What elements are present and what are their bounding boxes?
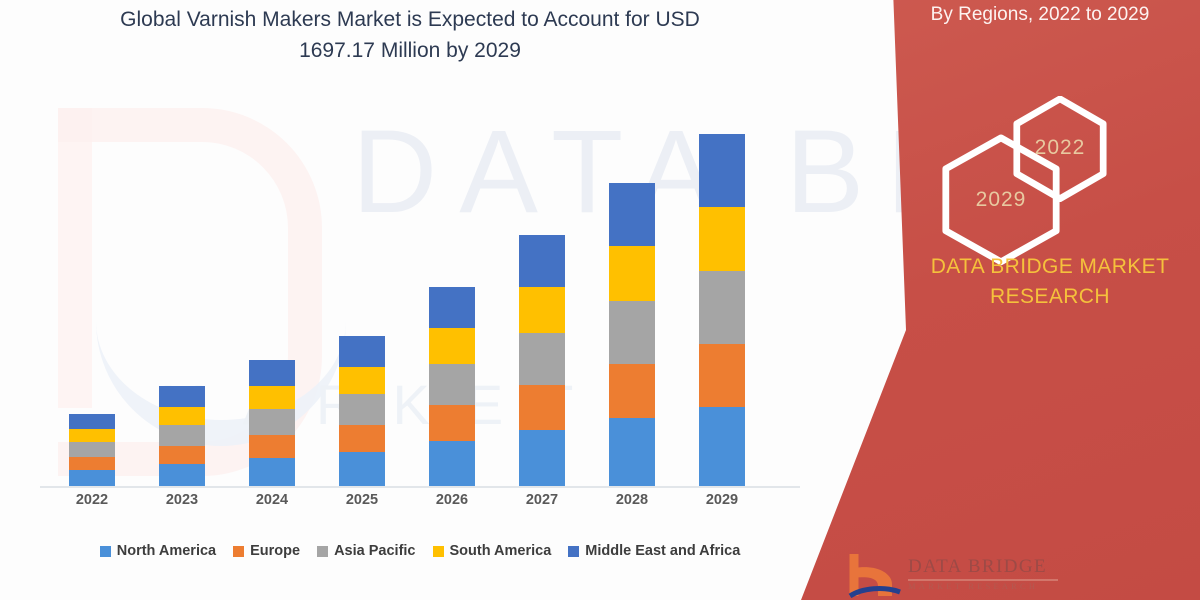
legend-label: Middle East and Africa	[585, 543, 740, 559]
bar-group-2025	[339, 336, 385, 486]
legend-label: South America	[450, 543, 552, 559]
bar-segment-middle-east-and-africa	[429, 287, 475, 328]
bar-segment-north-america	[159, 464, 205, 486]
bar-segment-middle-east-and-africa	[159, 386, 205, 407]
bar-segment-europe	[699, 344, 745, 407]
bar-segment-middle-east-and-africa	[699, 134, 745, 207]
legend-label: North America	[117, 543, 216, 559]
bar-segment-middle-east-and-africa	[339, 336, 385, 367]
hexagon-badge-2022-label: 2022	[1035, 136, 1086, 160]
legend-swatch-icon	[233, 546, 244, 557]
bar-group-2022	[69, 414, 115, 486]
legend-label: Europe	[250, 543, 300, 559]
bar-group-2026	[429, 287, 475, 486]
bar-segment-europe	[249, 435, 295, 458]
x-axis-label-2023: 2023	[137, 492, 227, 508]
chart-legend: North AmericaEuropeAsia PacificSouth Ame…	[40, 538, 800, 564]
bar-segment-asia-pacific	[249, 409, 295, 435]
logo-name: DATA BRIDGE	[908, 556, 1047, 578]
legend-swatch-icon	[100, 546, 111, 557]
panel-heading: By Regions, 2022 to 2029	[880, 4, 1200, 26]
x-axis-labels: 20222023202420252026202720282029	[40, 492, 800, 518]
bar-segment-asia-pacific	[159, 425, 205, 446]
bar-segment-middle-east-and-africa	[69, 414, 115, 429]
bar-segment-asia-pacific	[699, 271, 745, 344]
x-axis-label-2028: 2028	[587, 492, 677, 508]
x-axis-label-2025: 2025	[317, 492, 407, 508]
bar-segment-north-america	[519, 430, 565, 486]
legend-item-europe[interactable]: Europe	[233, 543, 300, 559]
bar-segment-north-america	[69, 470, 115, 486]
legend-item-asia-pacific[interactable]: Asia Pacific	[317, 543, 415, 559]
stacked-bar-series	[40, 60, 800, 486]
bar-segment-south-america	[699, 207, 745, 271]
brand-line-1: DATA BRIDGE MARKET	[900, 252, 1200, 282]
x-axis-label-2029: 2029	[677, 492, 767, 508]
legend-item-middle-east-and-africa[interactable]: Middle East and Africa	[568, 543, 740, 559]
legend-item-south-america[interactable]: South America	[433, 543, 552, 559]
bar-segment-north-america	[339, 452, 385, 486]
bar-segment-asia-pacific	[69, 442, 115, 457]
bar-segment-north-america	[609, 418, 655, 486]
bar-segment-south-america	[69, 429, 115, 442]
x-axis-line	[40, 486, 800, 488]
x-axis-label-2026: 2026	[407, 492, 497, 508]
bar-segment-europe	[429, 405, 475, 441]
bar-segment-north-america	[249, 458, 295, 486]
bar-segment-asia-pacific	[429, 364, 475, 405]
bar-segment-south-america	[159, 407, 205, 425]
bar-segment-europe	[339, 425, 385, 452]
logo-tagline: MARKET RESEARCH	[908, 581, 1038, 591]
bar-segment-south-america	[339, 367, 385, 394]
brand-name: DATA BRIDGE MARKET RESEARCH	[900, 252, 1200, 312]
company-logo: DATA BRIDGE MARKET RESEARCH	[838, 550, 1138, 600]
bar-group-2029	[699, 134, 745, 486]
bar-segment-asia-pacific	[339, 394, 385, 425]
bar-segment-middle-east-and-africa	[519, 235, 565, 287]
logo-mark-icon	[848, 552, 902, 598]
legend-item-north-america[interactable]: North America	[100, 543, 216, 559]
brand-line-2: RESEARCH	[900, 282, 1200, 312]
bar-segment-europe	[159, 446, 205, 464]
bar-group-2027	[519, 235, 565, 486]
x-axis-label-2022: 2022	[47, 492, 137, 508]
bar-segment-europe	[609, 364, 655, 418]
legend-label: Asia Pacific	[334, 543, 415, 559]
hexagon-badge-2029-label: 2029	[976, 188, 1027, 212]
bar-segment-europe	[69, 457, 115, 470]
legend-swatch-icon	[317, 546, 328, 557]
legend-swatch-icon	[433, 546, 444, 557]
bar-segment-south-america	[429, 328, 475, 364]
bar-segment-middle-east-and-africa	[609, 183, 655, 246]
x-axis-label-2024: 2024	[227, 492, 317, 508]
bar-segment-south-america	[519, 287, 565, 333]
x-axis-label-2027: 2027	[497, 492, 587, 508]
bar-segment-south-america	[249, 386, 295, 409]
bar-group-2023	[159, 386, 205, 486]
hexagon-badges: 2022 2029	[930, 96, 1180, 256]
bar-segment-south-america	[609, 246, 655, 301]
legend-swatch-icon	[568, 546, 579, 557]
chart-title: Global Varnish Makers Market is Expected…	[60, 4, 760, 66]
chart-plot-area: 20222023202420252026202720282029	[40, 60, 800, 490]
bar-segment-europe	[519, 385, 565, 430]
bridge-logo-icon	[848, 552, 902, 598]
infographic-root: DATA BRIDGE MARKET Global Varnish Makers…	[0, 0, 1200, 600]
bar-segment-asia-pacific	[609, 301, 655, 364]
bar-segment-middle-east-and-africa	[249, 360, 295, 386]
bar-segment-asia-pacific	[519, 333, 565, 385]
chart-title-line1: Global Varnish Makers Market is Expected…	[60, 4, 760, 35]
bar-segment-north-america	[699, 407, 745, 486]
bar-group-2028	[609, 183, 655, 486]
bar-group-2024	[249, 360, 295, 486]
bar-segment-north-america	[429, 441, 475, 486]
